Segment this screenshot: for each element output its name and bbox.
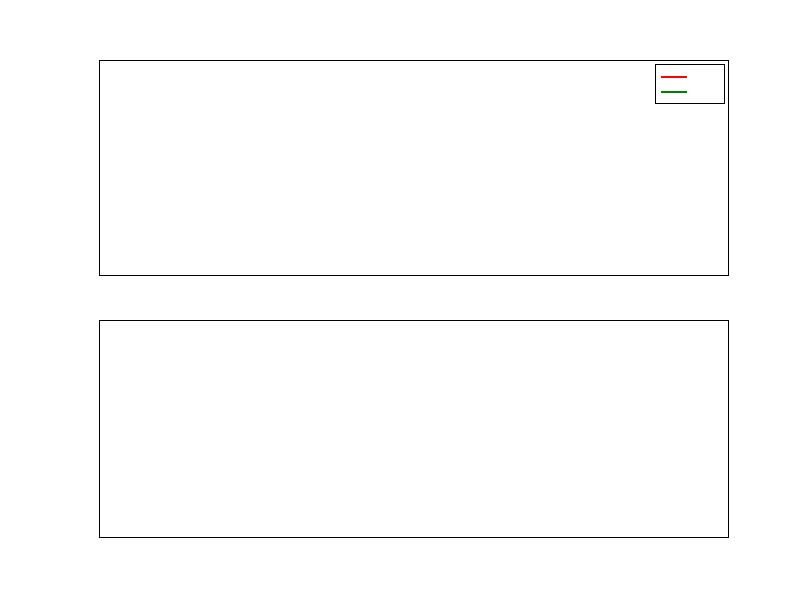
bottom-spectrum-panel [99,320,729,538]
bottom-plot-canvas [99,320,729,538]
legend-swatch-xx1 [661,76,687,78]
top-spectrum-panel [99,60,729,276]
top-plot-canvas [99,60,729,276]
legend-entry-yy1 [661,84,718,99]
legend [655,64,725,104]
bottom-plot-background [99,320,729,538]
legend-entry-xx1 [661,69,718,84]
spectrum-figure [0,0,800,600]
legend-swatch-yy1 [661,91,687,93]
top-plot-background [99,60,729,276]
